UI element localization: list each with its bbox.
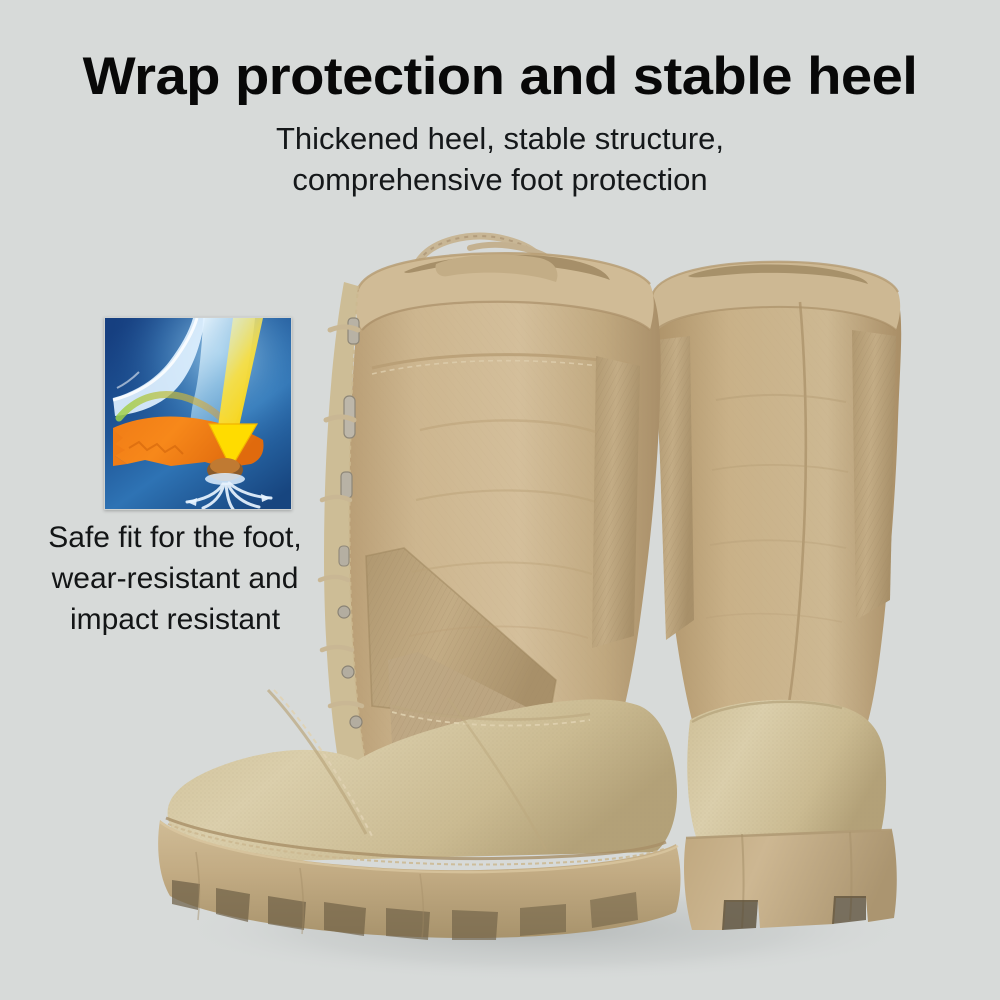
boot-right-collar: [650, 262, 900, 332]
boot-left-webbing-panel: [366, 548, 556, 726]
boot-right-webbing-left: [656, 336, 694, 640]
caption-line-1: Safe fit for the foot,: [10, 517, 340, 558]
boot-right-heel-block: [684, 830, 897, 930]
boot-left-suede-toe: [168, 699, 677, 862]
caption-line-3: impact resistant: [10, 599, 340, 640]
boot-left-welt: [166, 818, 666, 859]
boot-right-back-seam: [782, 302, 806, 744]
boot-left-lace-loop: [418, 236, 545, 264]
ground-shadow: [175, 878, 915, 982]
boot-right: [650, 262, 901, 930]
boot-right-opening: [688, 264, 868, 284]
boot-right-lug-notch-2: [832, 896, 866, 924]
boot-left-shaft: [348, 257, 661, 768]
boot-left-vamp-seam: [392, 706, 590, 720]
boot-left-collar: [355, 253, 653, 330]
subtitle-line-2: comprehensive foot protection: [0, 159, 1000, 200]
feature-caption: Safe fit for the foot, wear-resistant an…: [10, 517, 340, 640]
boot-left-midsole: [158, 820, 680, 938]
boot-right-webbing-right: [852, 330, 896, 620]
boot-left-webbing-panel-2: [388, 652, 576, 764]
page-title: Wrap protection and stable heel: [0, 48, 1000, 106]
boot-left-lug-tread: [172, 880, 638, 940]
boot-left-upper-seam: [372, 355, 628, 368]
boot-left-webbing-side: [592, 356, 640, 648]
boot-right-shaft: [655, 266, 901, 748]
caption-line-2: wear-resistant and: [10, 558, 340, 599]
page-subtitle: Thickened heel, stable structure, compre…: [0, 118, 1000, 200]
boot-left-opening: [404, 255, 610, 280]
boot-left-speed-hooks: [338, 318, 362, 728]
boot-right-suede-counter: [687, 700, 886, 848]
boot-left-quarter-seam: [448, 698, 546, 850]
boot-right-lug-notch-1: [722, 900, 758, 930]
impact-absorption-diagram-icon: [104, 317, 292, 510]
boot-left-lace-loop-2: [470, 245, 560, 266]
boot-left-toe-seam: [268, 690, 366, 834]
boot-left-tongue: [436, 255, 558, 282]
subtitle-line-1: Thickened heel, stable structure,: [0, 118, 1000, 159]
product-feature-banner: Wrap protection and stable heel Thickene…: [0, 0, 1000, 1000]
